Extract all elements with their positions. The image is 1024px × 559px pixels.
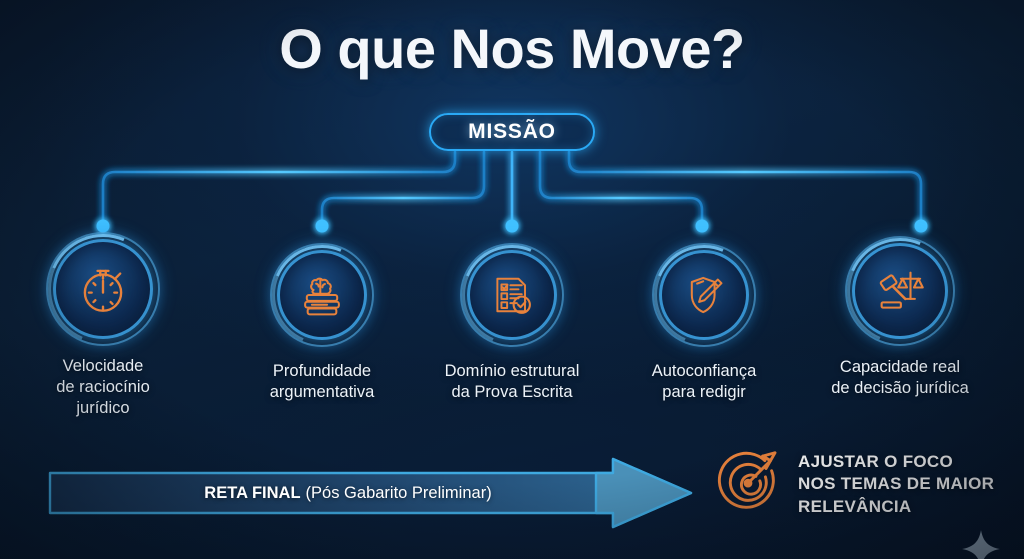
pillar-label: Velocidade de raciocínio jurídico — [9, 356, 197, 419]
pillar-label: Profundidade argumentativa — [228, 361, 416, 403]
reta-final-arrow-banner[interactable]: RETA FINAL(Pós Gabarito Preliminar) — [48, 457, 693, 529]
shield-pen-icon — [652, 243, 756, 347]
checklist-approved-icon — [460, 243, 564, 347]
pillar-disc — [652, 243, 756, 347]
arrow-banner-bold-text: RETA FINAL — [204, 484, 300, 503]
pillar-disc — [46, 232, 160, 346]
stopwatch-icon — [46, 232, 160, 346]
infographic-canvas: O que Nos Move? — [0, 0, 1024, 559]
arrow-banner-normal-text: (Pós Gabarito Preliminar) — [306, 484, 492, 503]
pillar-label: Autoconfiança para redigir — [610, 361, 798, 403]
pillar-autoconfianca[interactable]: Autoconfiança para redigir — [610, 243, 798, 403]
sparkle-icon — [960, 528, 1002, 559]
brain-on-books-icon — [270, 243, 374, 347]
pillar-disc — [845, 236, 955, 346]
pillar-velocidade[interactable]: Velocidade de raciocínio jurídico — [9, 232, 197, 419]
pillar-disc — [460, 243, 564, 347]
mission-badge[interactable]: MISSÃO — [429, 113, 595, 151]
arrow-banner-label: RETA FINAL(Pós Gabarito Preliminar) — [48, 457, 648, 529]
target-dart-icon — [712, 446, 784, 523]
gavel-scales-icon — [845, 236, 955, 346]
pillar-label: Domínio estrutural da Prova Escrita — [402, 361, 622, 403]
pillar-capacidade[interactable]: Capacidade real de decisão jurídica — [806, 236, 994, 399]
pillar-label: Capacidade real de decisão jurídica — [785, 357, 1015, 399]
focus-callout[interactable]: AJUSTAR O FOCO NOS TEMAS DE MAIOR RELEVÂ… — [712, 446, 1012, 523]
pillar-disc — [270, 243, 374, 347]
focus-callout-text: AJUSTAR O FOCO NOS TEMAS DE MAIOR RELEVÂ… — [798, 451, 994, 517]
pillar-profundidade[interactable]: Profundidade argumentativa — [228, 243, 416, 403]
mission-label: MISSÃO — [468, 120, 556, 144]
pillar-dominio[interactable]: Domínio estrutural da Prova Escrita — [418, 243, 606, 403]
